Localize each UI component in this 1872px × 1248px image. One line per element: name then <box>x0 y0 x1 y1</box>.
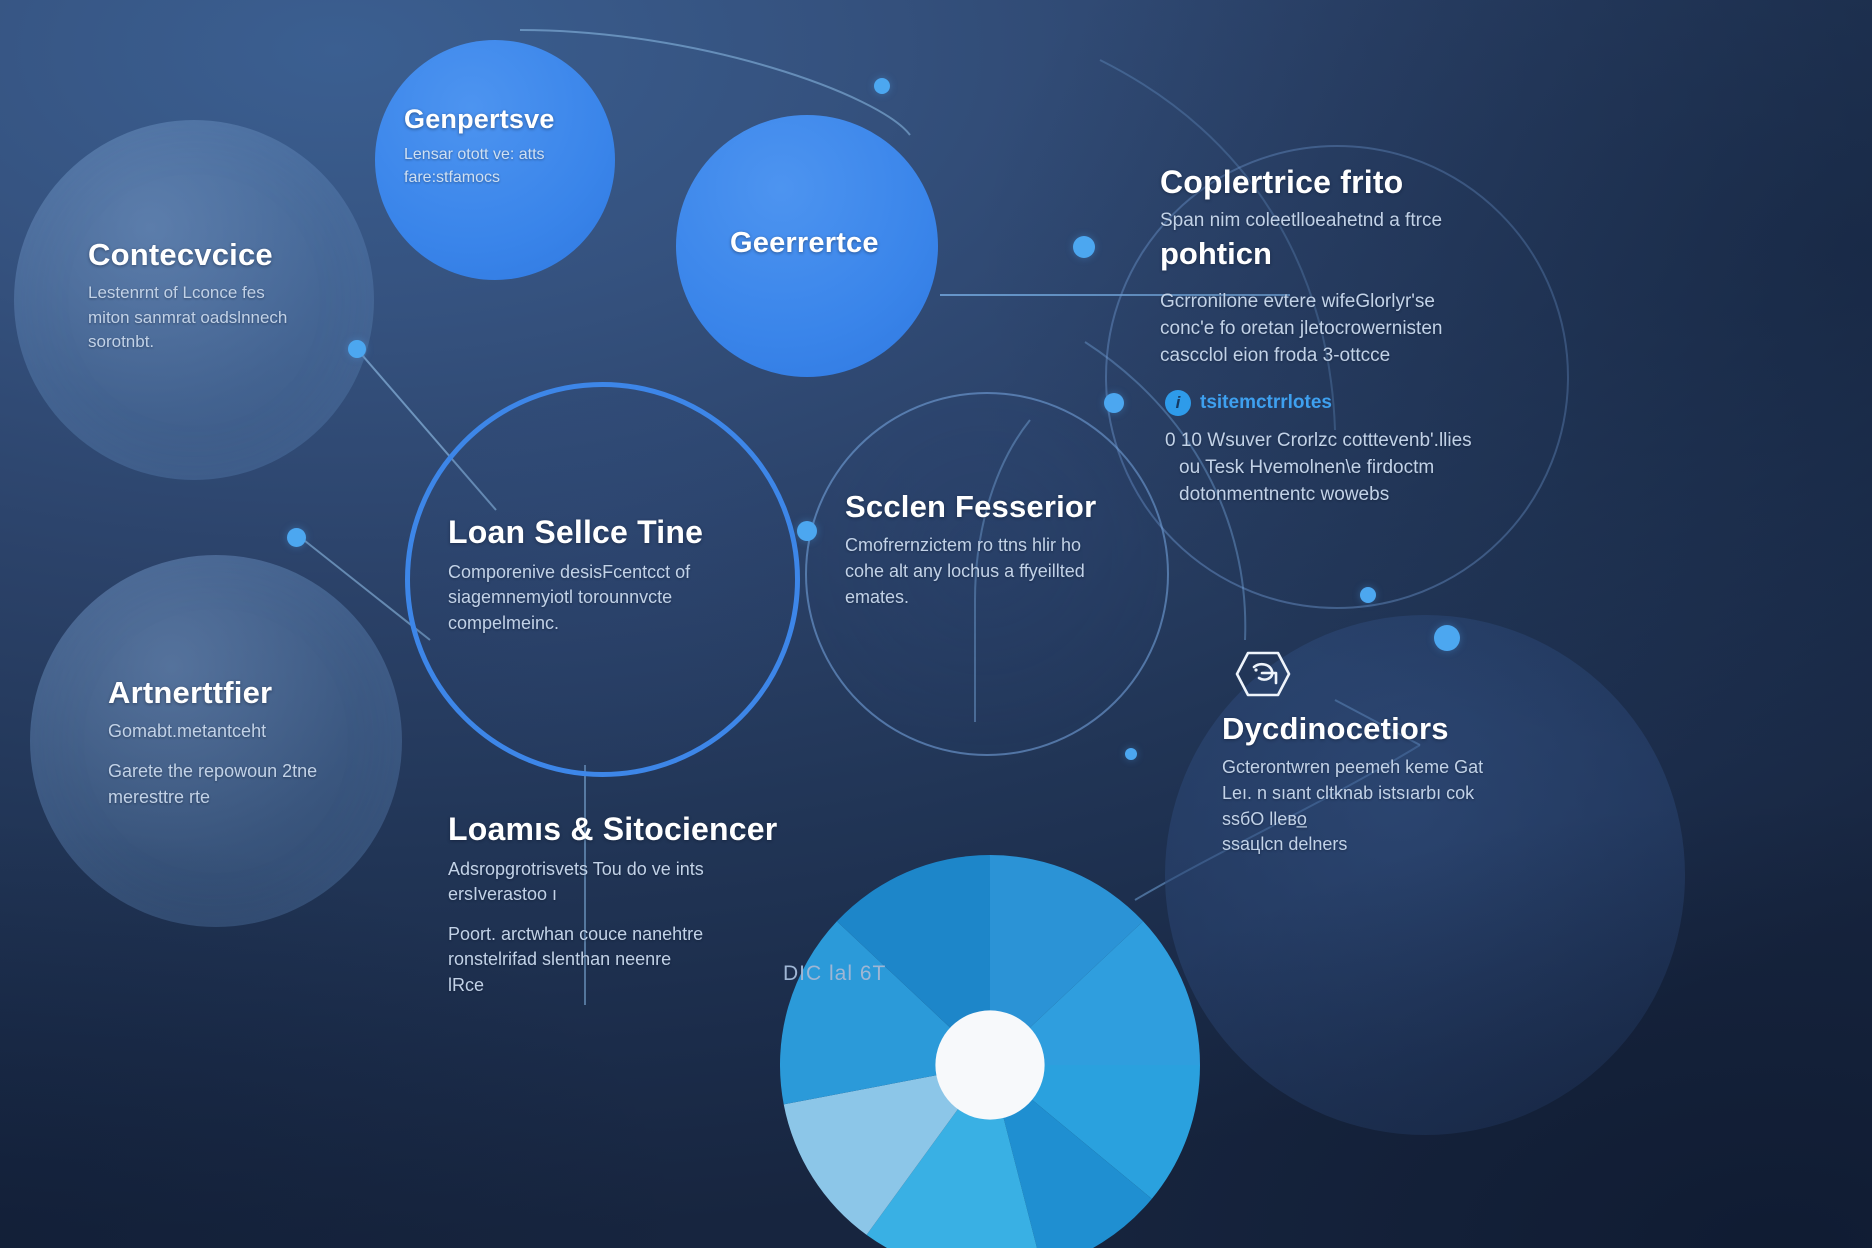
title-dydrinoceetiors: Dyсdinocetiors <box>1222 712 1552 745</box>
body-contecvice-line3: sorotnbt. <box>88 330 358 354</box>
node-dot-dydrino-upper[interactable] <box>1360 587 1376 603</box>
donut-svg <box>780 855 1200 1248</box>
body-loams-line5: lRce <box>448 973 778 999</box>
body-dydrino-line4: ssaцlcn delners <box>1222 832 1552 858</box>
body-dydrino-line1: Gcterontwren peemeh keme Gat <box>1222 755 1552 781</box>
body-scclen-line3: emates. <box>845 585 1135 611</box>
text-block-loan-sellce-tine: Loan Sellce Tine Comporenive desisFcentc… <box>448 515 738 636</box>
body-scclen-line2: cohe alt any lochus a ffyeillted <box>845 559 1135 585</box>
body-coplertrice-line2: conc'e fo oretan jletocrowernisten <box>1160 316 1860 343</box>
body-dydrino-line2: Leı. n sıant cltknab istsıarbı cok <box>1222 781 1552 807</box>
info-icon: i <box>1165 390 1191 416</box>
node-dot-dydrino-tail[interactable] <box>1125 748 1137 760</box>
text-block-scclen-fesserior: Scclen Fesserior Cmofrernzictem ro ttns … <box>845 490 1135 610</box>
title-coplertrice: Coplertrice frito <box>1160 165 1860 200</box>
body-genpertsve-line1: Lensar otott ve: atts <box>404 144 619 167</box>
node-dot-ring-center-right[interactable] <box>797 521 817 541</box>
body-contecvice-line1: Lestenrnt of Lconce fes <box>88 281 358 305</box>
donut-chart[interactable] <box>780 855 1200 1248</box>
note-line1: 0 10 Wsuver Crorlzc cotttevenb'.llies <box>1165 428 1845 455</box>
node-dot-right-panel-mid[interactable] <box>1104 393 1124 413</box>
body-loan-line1: Comporenive desisFcentcct of <box>448 560 738 586</box>
body-artnerttier-line2: Garete the repowoun 2tne <box>108 759 408 785</box>
body-loams-line4: ronstelrifad slenthan neenre <box>448 947 778 973</box>
body-loan-line2: siagemnemyiotl torounnvcte <box>448 585 738 611</box>
body-dydrino-line3: ssбО lleвo̲ <box>1222 807 1552 833</box>
title-geerrertce: Geerrertce <box>730 228 960 259</box>
title-contecvice: Contecvcice <box>88 238 358 271</box>
body-contecvice-line2: miton sanmrat oadslnnech <box>88 306 358 330</box>
node-dot-ring-center-left[interactable] <box>287 528 306 547</box>
donut-label: DIC lal 6T <box>783 962 886 986</box>
title-genpertsve: Genpertsve <box>404 105 619 134</box>
link-tsitemctrrlotes[interactable]: i tsitemctrrlotes <box>1165 390 1845 416</box>
subline-coplertrice: Span nim coleetlloeahetnd a ftrce <box>1160 208 1860 235</box>
body-artnerttier-line1: Gomabt.metantceht <box>108 719 408 745</box>
title-loan-sellce-tine: Loan Sellce Tine <box>448 515 738 550</box>
text-block-artnerttier: Artnerttfier Gomabt.metantceht Garete th… <box>108 676 408 810</box>
text-block-geerrertce: Geerrertce <box>730 228 960 259</box>
text-block-loams-sitociencer: Loamıs & Sitociencer Adsropgrotrisvets T… <box>448 812 778 998</box>
link-label: tsitemctrrlotes <box>1200 392 1332 414</box>
text-block-coplertrice: Coplertrice frito Span nim coleetlloeahe… <box>1160 165 1860 370</box>
donut-hole <box>935 1010 1044 1119</box>
title-loams-sitociencer: Loamıs & Sitociencer <box>448 812 778 847</box>
body-artnerttier-line3: meresttre rte <box>108 785 408 811</box>
text-block-contecvice: Contecvcice Lestenrnt of Lconce fes mito… <box>88 238 358 354</box>
node-dot-dydrino-lower[interactable] <box>1434 625 1460 651</box>
body-genpertsve-line2: fare:stfamocs <box>404 167 619 190</box>
body-loams-line3: Poort. arctwhan couce nanehtre <box>448 922 778 948</box>
text-block-genpertsve: Genpertsve Lensar otott ve: atts fare:st… <box>404 105 619 190</box>
title-scclen-fesserior: Scclen Fesserior <box>845 490 1135 523</box>
subtitle-coplertrice: pohticn <box>1160 237 1860 271</box>
body-coplertrice-line3: cascclol eion froda 3-ottcce <box>1160 343 1860 370</box>
note-line2: ou Tesk Hvemolnen\e firdoctm <box>1165 455 1845 482</box>
body-loams-line2: ersIverastoo ı <box>448 882 778 908</box>
hexagon-chip-icon <box>1232 645 1294 703</box>
note-line3: dotonmentnentc wowebs <box>1165 482 1845 509</box>
node-dot-genpertsve-top[interactable] <box>874 78 890 94</box>
link-block-tsitemctrrlotes: i tsitemctrrlotes 0 10 Wsuver Crorlzc co… <box>1165 390 1845 509</box>
body-loams-line1: Adsropgrotrisvets Tou do ve ints <box>448 857 778 883</box>
title-artnerttier: Artnerttfier <box>108 676 408 709</box>
body-coplertrice-line1: Gcrronilone evtere wifeGlorlyr'se <box>1160 289 1860 316</box>
node-dot-geerrertce-right[interactable] <box>1073 236 1095 258</box>
infographic-canvas: DIC lal 6T Contecvcice Lestenrnt of Lcon… <box>0 0 1872 1248</box>
body-loan-line3: compelmeinc. <box>448 611 738 637</box>
body-scclen-line1: Cmofrernzictem ro ttns hlir ho <box>845 533 1135 559</box>
text-block-dydrinoceetiors: Dyсdinocetiors Gcterontwren peemeh keme … <box>1222 712 1552 858</box>
